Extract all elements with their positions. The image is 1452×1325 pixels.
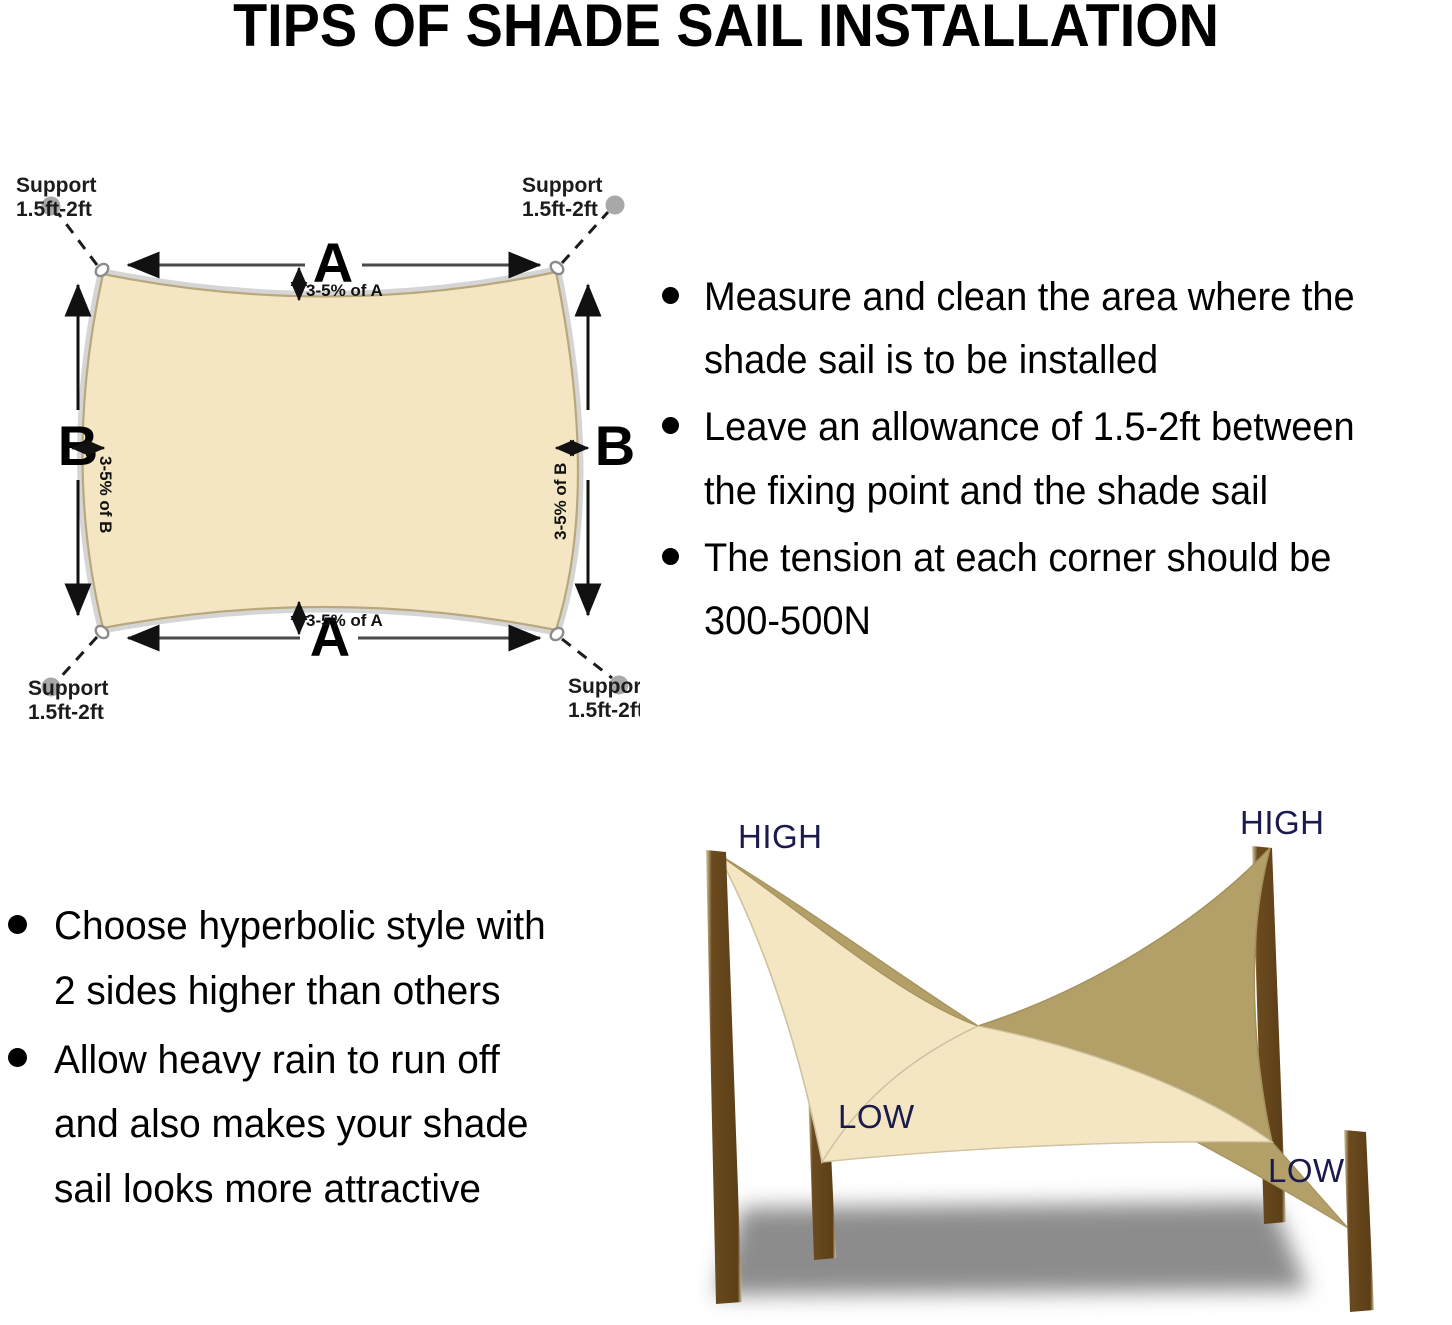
rect-sail-diagram: Support 1.5ft-2ft Support 1.5ft-2ft Supp… [0, 160, 640, 740]
support-label-bottom-left-line1: Support [28, 677, 108, 700]
hyperbolic-tips-list: Choose hyperbolic style with 2 sides hig… [0, 894, 630, 1226]
bullet-icon [662, 417, 679, 434]
tip-text: Measure and clean the area where the sha… [704, 266, 1422, 392]
curve-depth-label-bottom: 3-5% of A [306, 611, 383, 630]
support-label-top-left-line1: Support [16, 174, 96, 197]
post-high-left [706, 850, 742, 1304]
list-item: The tension at each corner should be 300… [648, 527, 1452, 653]
bullet-icon [8, 1048, 27, 1067]
list-item: Measure and clean the area where the sha… [648, 266, 1452, 392]
sail-label-high-left: HIGH [738, 818, 823, 855]
list-item: Allow heavy rain to run off and also mak… [0, 1028, 630, 1222]
page-title: TIPS OF SHADE SAIL INSTALLATION [51, 0, 1401, 57]
list-item: Leave an allowance of 1.5-2ft between th… [648, 396, 1452, 522]
support-label-bottom-right-line2: 1.5ft-2ft [568, 699, 640, 722]
sail-label-high-right: HIGH [1240, 804, 1325, 841]
post-low-right [1344, 1130, 1374, 1312]
support-label-bottom-left-line2: 1.5ft-2ft [28, 701, 104, 724]
curve-depth-label-left: 3-5% of B [96, 456, 115, 533]
dimension-label-B-left: B [58, 414, 98, 477]
tip-text: Leave an allowance of 1.5-2ft between th… [704, 396, 1422, 522]
curve-depth-label-right: 3-5% of B [551, 463, 570, 540]
tip-text: Allow heavy rain to run off and also mak… [54, 1028, 613, 1222]
sail-label-low-left: LOW [838, 1098, 915, 1135]
sail-label-low-right: LOW [1268, 1152, 1345, 1189]
bullet-icon [662, 287, 679, 304]
hyperbolic-sail-diagram: HIGH HIGH LOW LOW [660, 790, 1452, 1325]
support-label-bottom-right-line1: Support [568, 675, 640, 698]
bullet-icon [8, 915, 27, 934]
ground-shadow [716, 1202, 1308, 1295]
bullet-icon [662, 548, 679, 565]
installation-tips-list: Measure and clean the area where the sha… [648, 266, 1452, 657]
tip-text: The tension at each corner should be 300… [704, 527, 1422, 653]
list-item: Choose hyperbolic style with 2 sides hig… [0, 894, 630, 1024]
support-dot-top-right [606, 196, 625, 215]
dimension-label-B-right: B [595, 414, 635, 477]
support-label-top-right-line2: 1.5ft-2ft [522, 198, 598, 221]
curve-depth-label-top: 3-5% of A [306, 281, 383, 300]
sail-fabric [83, 272, 579, 630]
support-label-top-left-line2: 1.5ft-2ft [16, 198, 92, 221]
tip-text: Choose hyperbolic style with 2 sides hig… [54, 894, 613, 1024]
support-label-top-right-line1: Support [522, 174, 602, 197]
